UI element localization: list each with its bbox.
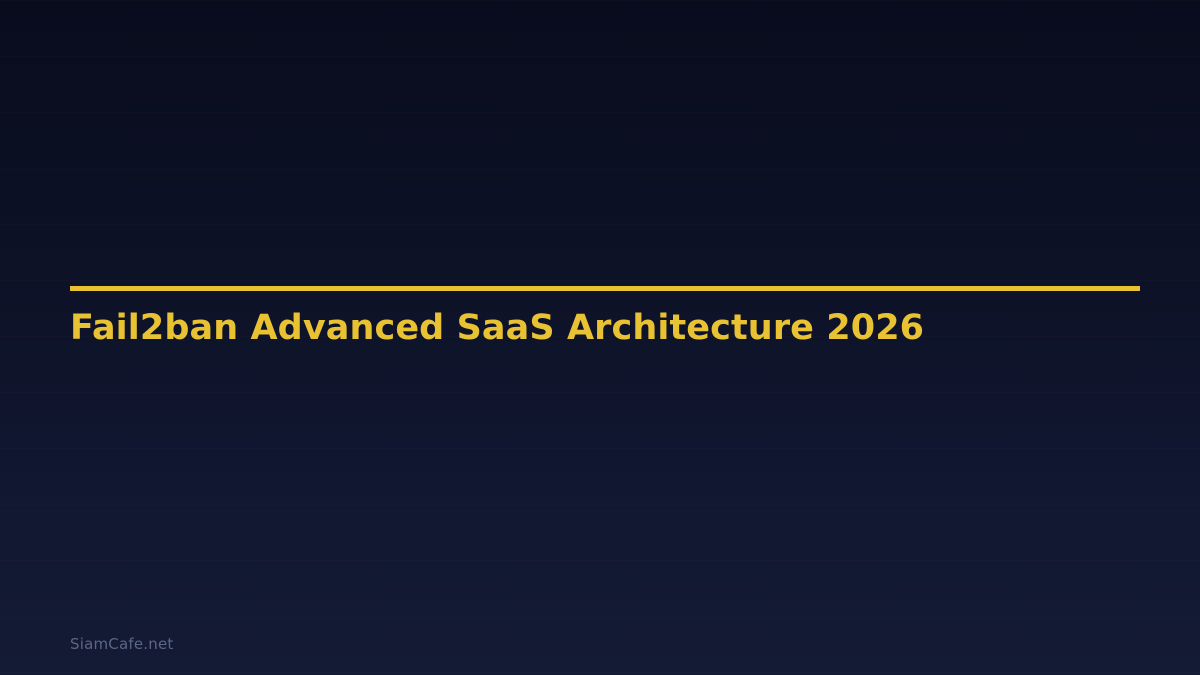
page-title: Fail2ban Advanced SaaS Architecture 2026 (70, 291, 1140, 349)
slide-footer: SiamCafe.net (70, 634, 173, 653)
footer-brand-label: SiamCafe.net (70, 635, 173, 653)
title-slide: Fail2ban Advanced SaaS Architecture 2026… (0, 0, 1200, 675)
title-block: Fail2ban Advanced SaaS Architecture 2026 (70, 286, 1140, 349)
